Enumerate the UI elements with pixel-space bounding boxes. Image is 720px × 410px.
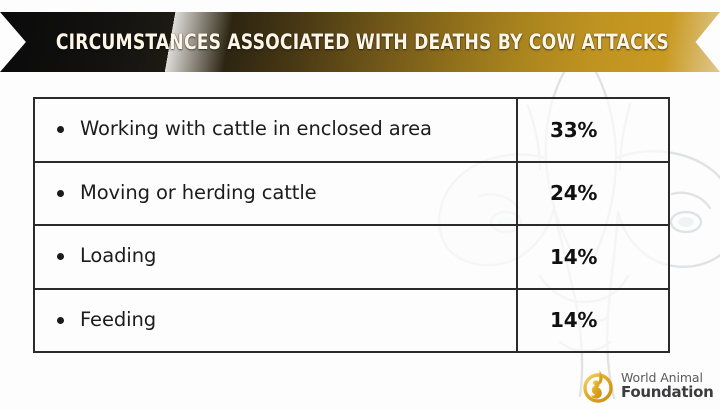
percentage-value: 14% <box>550 308 597 332</box>
title-banner: CIRCUMSTANCES ASSOCIATED WITH DEATHS BY … <box>0 12 720 72</box>
table-cell-label: Working with cattle in enclosed area <box>35 99 518 161</box>
table-cell-value: 24% <box>518 163 668 225</box>
table-cell-label: Feeding <box>35 290 518 352</box>
circumstance-label: Feeding <box>80 309 156 332</box>
infographic-canvas: CIRCUMSTANCES ASSOCIATED WITH DEATHS BY … <box>0 0 720 410</box>
table-cell-label: Moving or herding cattle <box>35 163 518 225</box>
table-row: Feeding 14% <box>35 290 668 352</box>
table-row: Working with cattle in enclosed area 33% <box>35 99 668 163</box>
world-animal-foundation-emblem-icon <box>582 368 616 404</box>
page-title: CIRCUMSTANCES ASSOCIATED WITH DEATHS BY … <box>72 12 648 72</box>
logo-wordmark: World Animal Foundation <box>621 372 713 400</box>
percentage-value: 14% <box>550 245 597 269</box>
table-cell-value: 33% <box>518 99 668 161</box>
bullet-icon <box>57 126 64 133</box>
percentage-value: 33% <box>550 118 597 142</box>
table-cell-value: 14% <box>518 290 668 352</box>
bullet-icon <box>57 253 64 260</box>
percentage-value: 24% <box>550 181 597 205</box>
bullet-icon <box>57 317 64 324</box>
table-cell-label: Loading <box>35 226 518 288</box>
logo-line-two: Foundation <box>621 385 713 400</box>
table-cell-value: 14% <box>518 226 668 288</box>
bullet-icon <box>57 190 64 197</box>
circumstance-label: Loading <box>80 245 156 268</box>
brand-logo: World Animal Foundation <box>582 366 716 406</box>
statistics-table: Working with cattle in enclosed area 33%… <box>33 97 670 353</box>
circumstance-label: Moving or herding cattle <box>80 182 317 205</box>
circumstance-label: Working with cattle in enclosed area <box>80 118 432 141</box>
table-row: Loading 14% <box>35 226 668 290</box>
table-row: Moving or herding cattle 24% <box>35 163 668 227</box>
